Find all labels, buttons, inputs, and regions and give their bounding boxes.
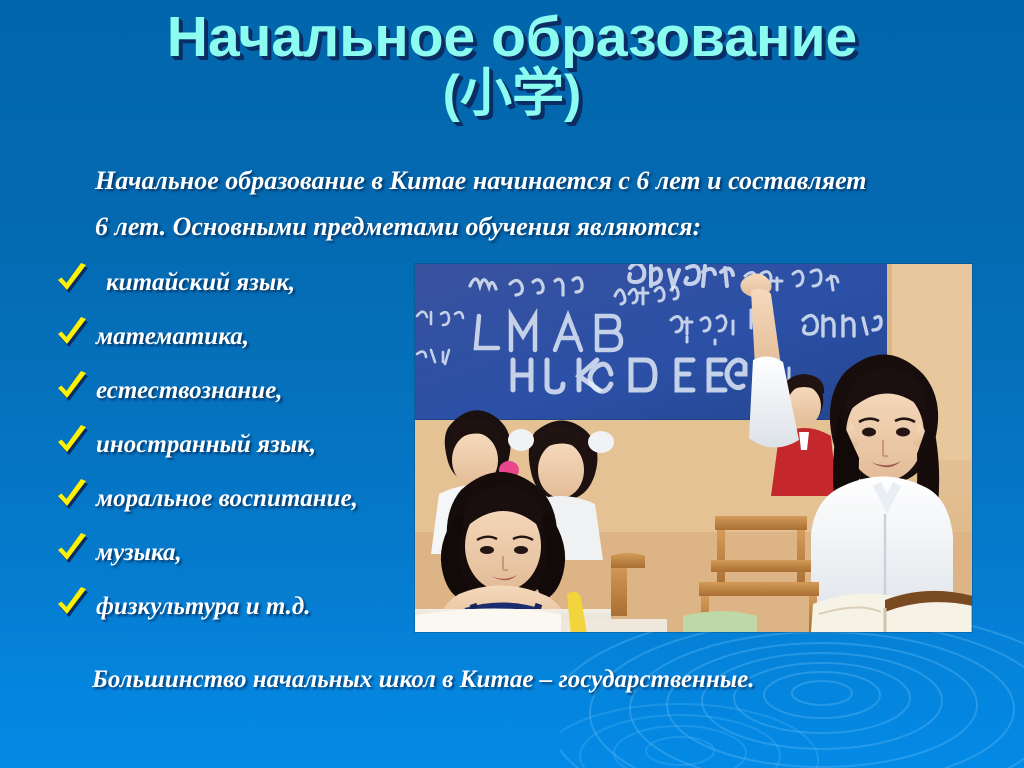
list-item-label: физкультура и т.д. bbox=[96, 593, 311, 621]
check-mark-icon bbox=[54, 532, 90, 568]
intro-paragraph: Начальное образование в Китае начинается… bbox=[95, 158, 957, 251]
list-item: естествознание, bbox=[54, 366, 414, 416]
list-item-label: китайский язык, bbox=[96, 269, 295, 297]
intro-line-2: 6 лет. Основными предметами обучения явл… bbox=[95, 204, 957, 250]
list-item: физкультура и т.д. bbox=[54, 582, 414, 632]
list-item-label: естествознание, bbox=[96, 377, 283, 405]
list-item: китайский язык, bbox=[54, 258, 414, 308]
list-item-label: музыка, bbox=[96, 539, 182, 567]
list-item: моральное воспитание, bbox=[54, 474, 414, 524]
subjects-bullet-list: китайский язык, математика, естествознан… bbox=[54, 258, 414, 636]
list-item: иностранный язык, bbox=[54, 420, 414, 470]
check-mark-icon bbox=[54, 478, 90, 514]
list-item-label: моральное воспитание, bbox=[96, 485, 358, 513]
check-mark-icon bbox=[54, 316, 90, 352]
slide-title: Начальное образование (小学) bbox=[0, 8, 1024, 121]
check-mark-icon bbox=[54, 424, 90, 460]
presentation-slide: Начальное образование (小学) Начальное обр… bbox=[0, 0, 1024, 768]
intro-line-1: Начальное образование в Китае начинается… bbox=[95, 158, 957, 204]
title-line-russian: Начальное образование bbox=[0, 8, 1024, 66]
list-item-label: математика, bbox=[96, 323, 249, 351]
footer-note: Большинство начальных школ в Китае – гос… bbox=[92, 666, 755, 694]
title-line-chinese: (小学) bbox=[0, 68, 1024, 121]
list-item: музыка, bbox=[54, 528, 414, 578]
check-mark-icon bbox=[54, 370, 90, 406]
check-mark-icon bbox=[54, 262, 90, 298]
list-item: математика, bbox=[54, 312, 414, 362]
list-item-label: иностранный язык, bbox=[96, 431, 316, 459]
classroom-photo bbox=[415, 264, 972, 632]
check-mark-icon bbox=[54, 586, 90, 622]
